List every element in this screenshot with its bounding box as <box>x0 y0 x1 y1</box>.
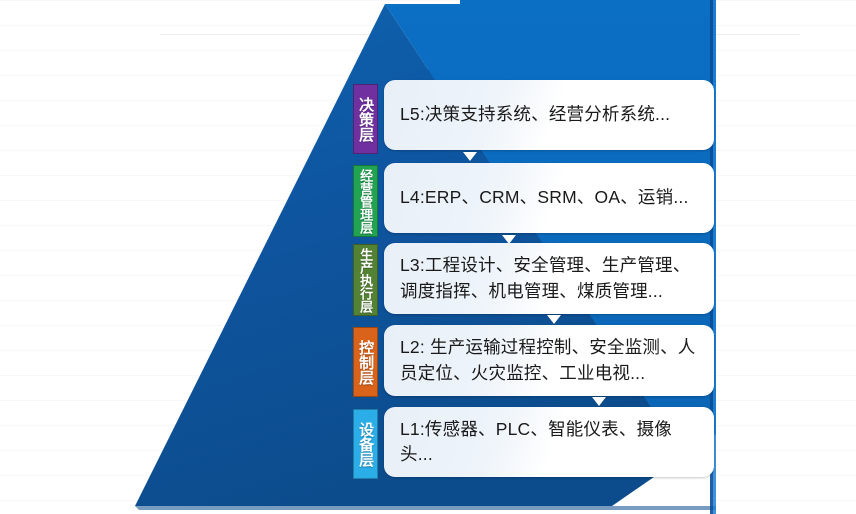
card-level-3-text: L3:工程设计、安全管理、生产管理、调度指挥、机电管理、煤质管理... <box>400 253 700 304</box>
tab-level-3[interactable]: 生产执行层 <box>353 244 378 316</box>
flow-marker-5 <box>463 152 477 161</box>
card-level-1[interactable]: L1:传感器、PLC、智能仪表、摄像头... <box>384 407 714 477</box>
card-level-4-text: L4:ERP、CRM、SRM、OA、运销... <box>400 185 689 210</box>
card-level-2-text: L2: 生产运输过程控制、安全监测、人员定位、火灾监控、工业电视... <box>400 335 700 386</box>
tab-level-1-label: 设备层 <box>358 422 373 467</box>
tab-level-5[interactable]: 决策层 <box>353 84 378 154</box>
tab-level-2-label: 控制层 <box>358 340 373 385</box>
tab-level-3-label: 生产执行层 <box>359 248 372 313</box>
card-level-5[interactable]: L5:决策支持系统、经营分析系统... <box>384 80 714 150</box>
tab-level-2[interactable]: 控制层 <box>353 327 378 397</box>
diagram-canvas: 决策层 L5:决策支持系统、经营分析系统... 经营管理层 L4:ERP、CRM… <box>0 0 856 514</box>
flow-marker-3 <box>547 315 561 324</box>
tab-level-4-label: 经营管理层 <box>359 169 372 234</box>
card-level-5-text: L5:决策支持系统、经营分析系统... <box>400 102 670 127</box>
card-level-4[interactable]: L4:ERP、CRM、SRM、OA、运销... <box>384 163 714 233</box>
card-level-2[interactable]: L2: 生产运输过程控制、安全监测、人员定位、火灾监控、工业电视... <box>384 325 714 396</box>
tab-level-4[interactable]: 经营管理层 <box>353 165 378 237</box>
pyramid-base-bevel <box>135 506 716 510</box>
card-level-1-text: L1:传感器、PLC、智能仪表、摄像头... <box>400 417 700 468</box>
flow-marker-2 <box>592 397 606 406</box>
card-level-3[interactable]: L3:工程设计、安全管理、生产管理、调度指挥、机电管理、煤质管理... <box>384 243 714 314</box>
tab-level-1[interactable]: 设备层 <box>353 409 378 479</box>
tab-level-5-label: 决策层 <box>358 97 373 142</box>
